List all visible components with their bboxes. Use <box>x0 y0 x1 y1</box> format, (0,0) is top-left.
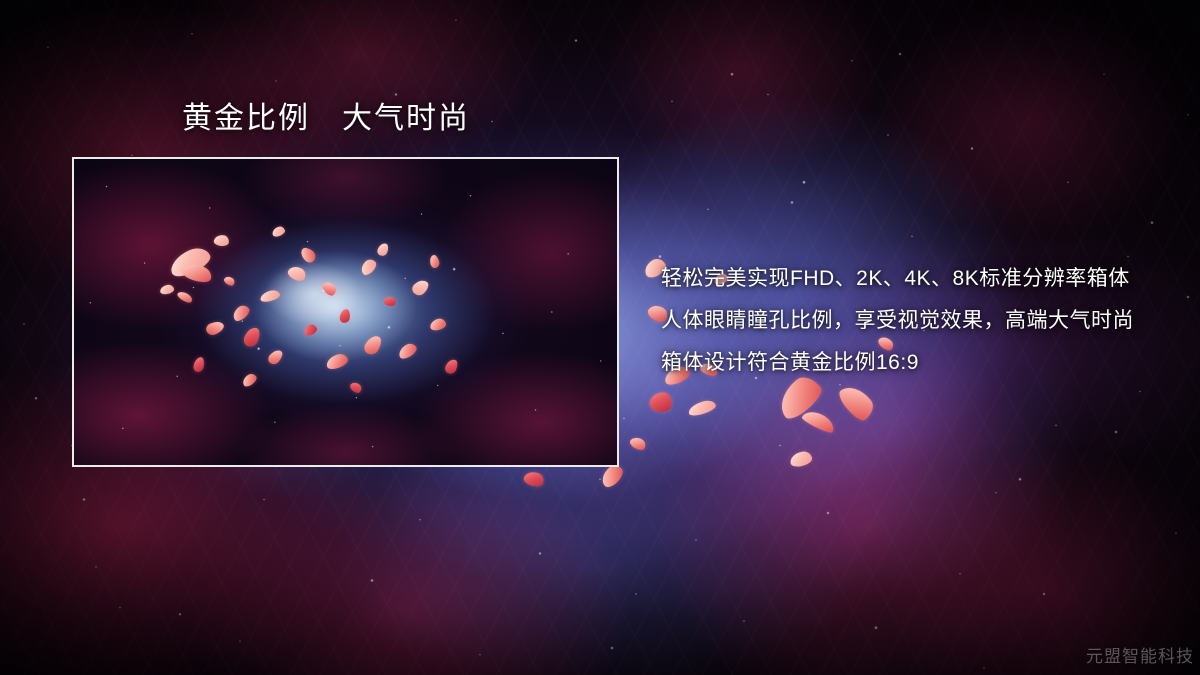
flower-petal-icon <box>358 257 379 277</box>
flower-petal-icon <box>383 296 397 308</box>
company-watermark: 元盟智能科技 <box>1086 642 1194 667</box>
flower-petal-icon <box>428 254 440 269</box>
flower-petal-icon <box>266 347 285 366</box>
flower-petal-icon <box>376 242 390 258</box>
flower-petal-icon <box>801 407 838 434</box>
flower-petal-icon <box>271 225 286 238</box>
flower-petal-icon <box>325 352 350 371</box>
flower-petal-icon <box>429 317 447 331</box>
panel-nebula-core-glow <box>74 159 617 465</box>
flower-petal-icon <box>349 380 364 395</box>
flower-petal-icon <box>193 356 206 373</box>
flower-petal-icon <box>298 245 318 264</box>
slide-title: 黄金比例 大气时尚 <box>182 100 470 138</box>
slide-body-text: 轻松完美实现FHD、2K、4K、8K标准分辨率箱体 人体眼睛瞳孔比例，享受视觉效… <box>661 258 1134 384</box>
flower-petal-icon <box>159 284 174 295</box>
flower-petal-icon <box>286 264 308 284</box>
body-line-3: 箱体设计符合黄金比例16:9 <box>661 342 1134 384</box>
flower-petal-icon <box>339 308 351 323</box>
flower-petal-icon <box>321 279 339 298</box>
flower-petal-icon <box>628 435 647 453</box>
flower-petal-icon <box>213 234 229 247</box>
flower-petal-icon <box>223 275 237 288</box>
panel-petals-overlay <box>74 159 617 465</box>
body-line-2: 人体眼睛瞳孔比例，享受视觉效果，高端大气时尚 <box>661 300 1134 342</box>
presentation-slide: 黄金比例 大气时尚 轻松完美实现FHD、2K、4K、8K标准分辨率箱体 人体眼睛… <box>0 0 1200 675</box>
flower-petal-icon <box>687 398 717 417</box>
body-line-1: 轻松完美实现FHD、2K、4K、8K标准分辨率箱体 <box>661 258 1134 300</box>
flower-petal-icon <box>242 325 262 349</box>
flower-petal-icon <box>302 323 318 338</box>
flower-petal-icon <box>230 303 252 324</box>
flower-petal-icon <box>789 450 813 468</box>
flower-petal-icon <box>836 380 878 425</box>
flower-petal-icon <box>443 357 459 375</box>
panel-nebula-background <box>74 159 617 465</box>
galaxy-image-frame <box>72 157 619 467</box>
flower-petal-icon <box>522 469 545 488</box>
flower-petal-icon <box>204 319 225 338</box>
flower-petal-icon <box>240 372 258 389</box>
flower-petal-icon <box>362 333 384 357</box>
flower-petal-icon <box>259 289 281 304</box>
flower-petal-icon <box>166 243 213 280</box>
flower-petal-icon <box>180 261 213 285</box>
flower-petal-icon <box>410 277 431 298</box>
flower-petal-icon <box>176 289 194 304</box>
panel-starfield-icon <box>74 159 617 465</box>
flower-petal-icon <box>648 390 674 414</box>
flower-petal-icon <box>396 341 418 361</box>
